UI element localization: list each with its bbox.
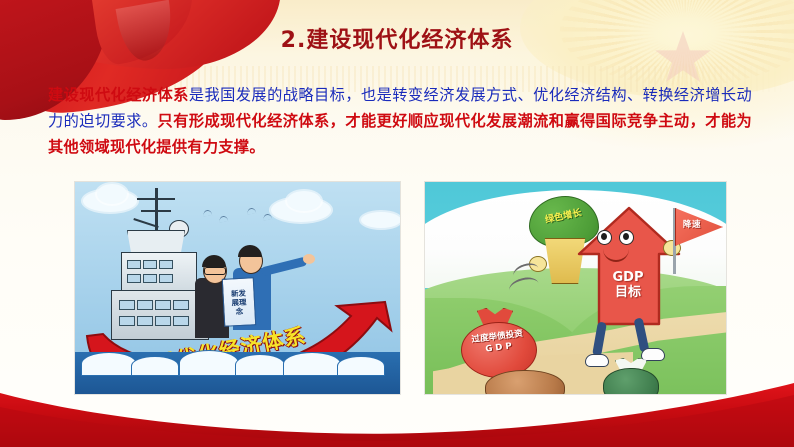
cloud-icon: [97, 184, 127, 204]
gdp-arrow-character: [575, 206, 687, 328]
gdp-arrow-label-line1: GDP: [593, 270, 663, 285]
illustration-left-inner: 现代化经济体系 新发展理念: [75, 182, 400, 394]
book-label: 新发展理念: [227, 288, 250, 316]
ship-window: [127, 260, 141, 269]
pupil-icon: [623, 233, 629, 240]
glasses-icon: [204, 267, 226, 275]
illustration-gdp-target[interactable]: 绿色增长 GDP 目标: [425, 182, 726, 394]
wave-icon: [235, 354, 285, 376]
gdp-arrow-label-line2: 目标: [593, 285, 663, 300]
ship-window: [143, 260, 157, 269]
cloud-icon: [361, 212, 400, 228]
mast-yard: [137, 198, 175, 200]
flag-label: 降速: [678, 218, 706, 230]
illustration-right-inner: 绿色增长 GDP 目标: [425, 182, 726, 394]
wave-icon: [131, 356, 179, 376]
ship-window: [127, 274, 141, 283]
wave-icon: [283, 352, 341, 376]
ship-window: [159, 260, 173, 269]
shoe-icon: [585, 354, 609, 367]
wave-icon: [337, 356, 385, 376]
wave-icon: [179, 350, 239, 376]
wave-icon: [81, 352, 137, 376]
ship-window: [159, 274, 173, 283]
cloud-icon: [287, 191, 321, 211]
page-title: 2.建设现代化经济体系: [0, 22, 794, 54]
body-paragraph: 建设现代化经济体系是我国发展的战略目标，也是转变经济发展方式、优化经济结构、转换…: [48, 82, 752, 160]
shoe-icon: [641, 348, 665, 361]
slide-canvas: 2.建设现代化经济体系 建设现代化经济体系是我国发展的战略目标，也是转变经济发展…: [0, 0, 794, 447]
body-segment-highlight-1: 建设现代化经济体系: [48, 86, 189, 104]
mast-yard: [141, 210, 171, 212]
pupil-icon: [601, 233, 607, 240]
ship-window: [143, 274, 157, 283]
book-prop: 新发展理念: [222, 277, 256, 327]
illustration-ship-arrow[interactable]: 现代化经济体系 新发展理念: [75, 182, 400, 394]
bottom-red-ribbon: [0, 377, 794, 447]
pointing-hand-icon: [303, 254, 315, 264]
gdp-arrow-label: GDP 目标: [593, 270, 663, 300]
